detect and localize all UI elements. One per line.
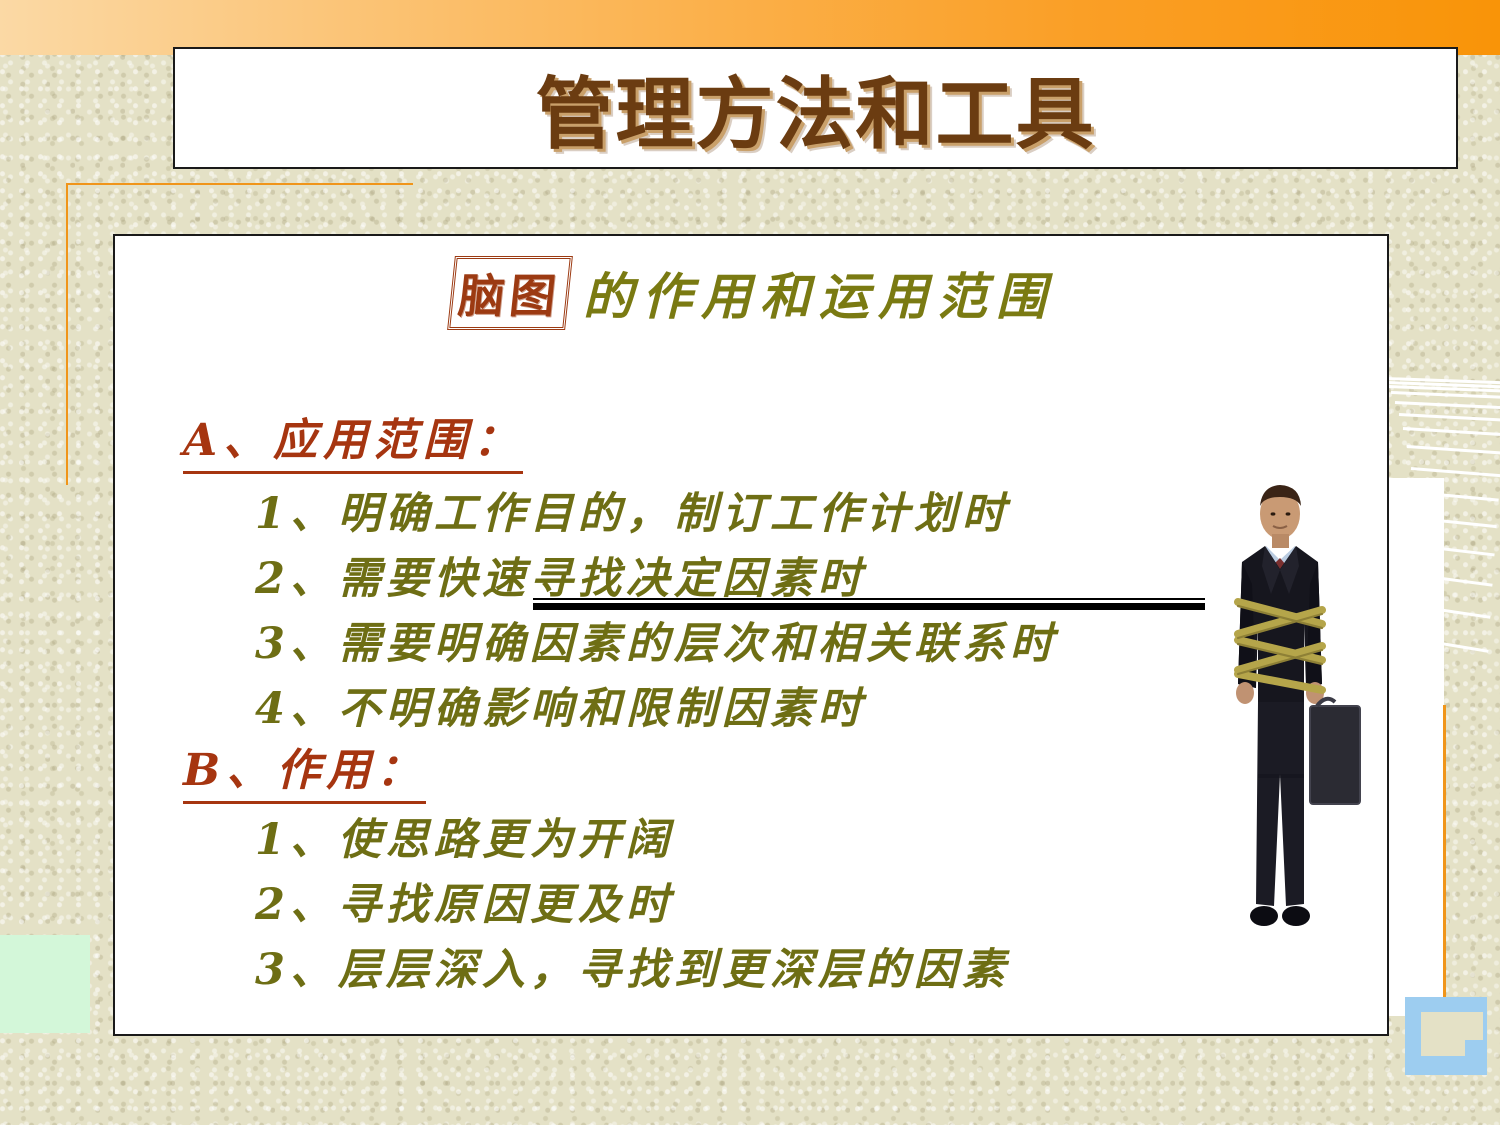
- subtitle-badge: 脑图: [447, 256, 573, 330]
- section-heading-b: B、作用：: [183, 734, 426, 804]
- list-item: 1、使思路更为开阔: [255, 805, 674, 867]
- subtitle-text: 的作用和运用范围: [583, 257, 1055, 329]
- list-item: 2、寻找原因更及时: [255, 870, 674, 932]
- blue-corner-notch: [1421, 1012, 1483, 1040]
- businessman-tied-illustration: [1218, 474, 1368, 974]
- slide-canvas: 管理方法和工具 脑图的作用和运用范围 A、应用范围： 1、明确工作目的，制订工作…: [0, 0, 1500, 1125]
- blue-corner-decoration: [1405, 997, 1487, 1075]
- right-white-block: [1386, 478, 1444, 1016]
- list-item: 1、明确工作目的，制订工作计划时: [255, 479, 1010, 541]
- content-subtitle: 脑图的作用和运用范围: [115, 256, 1389, 330]
- page-title: 管理方法和工具: [535, 52, 1095, 164]
- list-item: 3、需要明确因素的层次和相关联系时: [255, 609, 1058, 671]
- green-accent-block: [0, 935, 90, 1033]
- list-item: 4、不明确影响和限制因素时: [255, 674, 866, 736]
- slide-title-box: 管理方法和工具: [173, 47, 1458, 169]
- slide-content-box: 脑图的作用和运用范围 A、应用范围： 1、明确工作目的，制订工作计划时 2、需要…: [113, 234, 1389, 1036]
- section-heading-a: A、应用范围：: [183, 404, 523, 474]
- orange-vertical-accent-right: [1443, 705, 1446, 1020]
- list-item: 3、层层深入，寻找到更深层的因素: [255, 935, 1010, 997]
- list-item: 2、需要快速寻找决定因素时: [255, 544, 866, 606]
